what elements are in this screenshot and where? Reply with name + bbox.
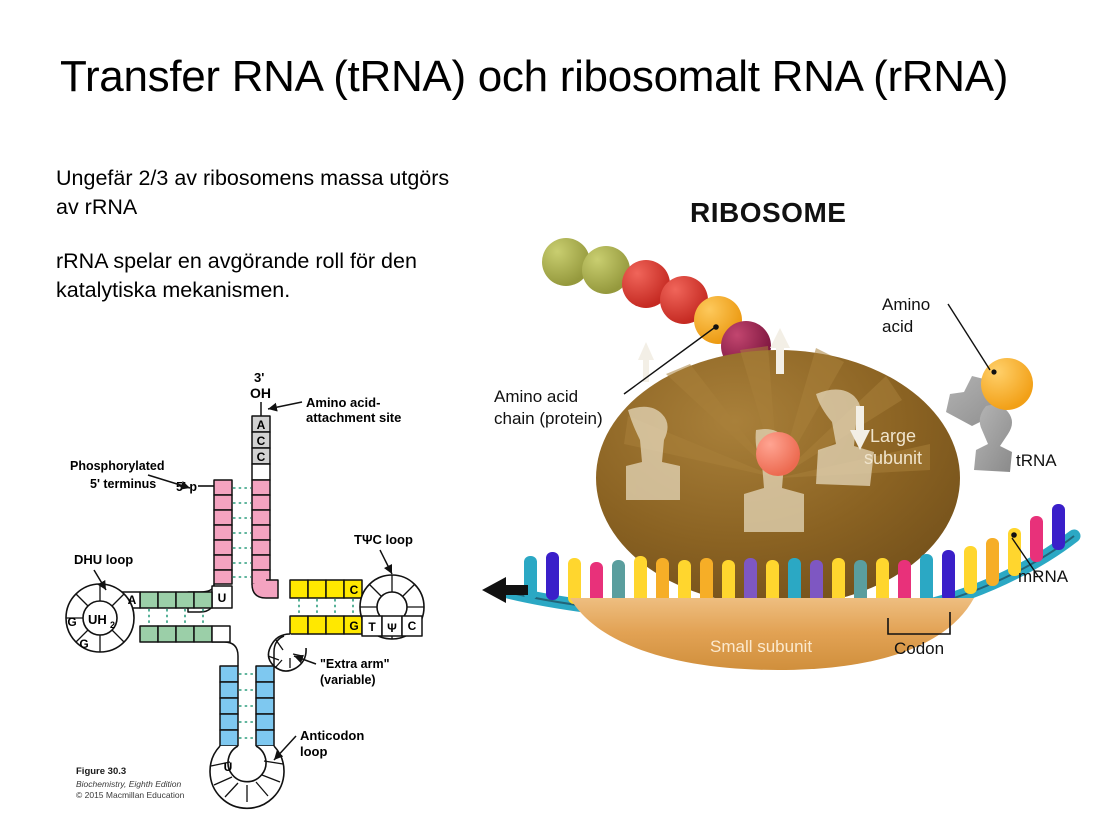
anticodon-stem-right <box>256 666 274 746</box>
base-c2-acceptor: C <box>257 450 266 464</box>
large-subunit-label-2: subunit <box>864 448 922 468</box>
base-t-tpsic: T <box>368 620 376 634</box>
label-mrna: mRNA <box>1018 567 1069 586</box>
trna-label-extra-arm-2: (variable) <box>320 673 376 687</box>
figure-copyright: © 2015 Macmillan Education <box>76 790 184 801</box>
svg-text:UH: UH <box>88 612 107 627</box>
body-paragraph-2: rRNA spelar en avgörande roll för den ka… <box>56 247 456 304</box>
tpsic-hbonds <box>299 599 353 615</box>
anticodon-hbonds <box>239 674 255 738</box>
label-aa-chain-2: chain (protein) <box>494 409 603 428</box>
small-subunit-label: Small subunit <box>710 637 812 656</box>
amino-acid-anchor-dot <box>991 369 996 374</box>
mrna-anchor-dot <box>1011 532 1017 538</box>
body-text-block: Ungefär 2/3 av ribosomens massa utgörs a… <box>56 164 456 330</box>
anticodon-stem-left <box>220 666 238 746</box>
svg-text:2: 2 <box>110 620 115 630</box>
acceptor-stem-left <box>214 480 232 584</box>
dhu-connector-b <box>212 626 230 642</box>
base-g1-dhu: G <box>67 615 76 629</box>
base-g2-dhu: G <box>79 637 88 651</box>
trna-label-tpsic-loop: TΨC loop <box>354 532 413 547</box>
base-c1-acceptor: C <box>257 434 266 448</box>
ribosome-title: RIBOSOME <box>690 197 846 228</box>
trna-label-anticodon-1: Anticodon <box>300 728 364 743</box>
label-amino-acid-1: Amino <box>882 295 930 314</box>
trna-label-3prime: 3' <box>254 370 264 385</box>
acceptor-hbonds <box>233 488 251 577</box>
aa-chain-anchor-dot <box>713 324 719 330</box>
trna-diagram-svg: 3' OH Amino acid- attachment site Phosph… <box>62 368 482 820</box>
label-codon: Codon <box>894 639 944 658</box>
base-u-anticodon: U <box>224 760 233 774</box>
base-u-acceptor: U <box>218 591 227 605</box>
protein-bead-1 <box>542 238 590 286</box>
figure-caption: Figure 30.3 Biochemistry, Eighth Edition… <box>76 766 184 802</box>
label-trna: tRNA <box>1016 451 1057 470</box>
trna-label-extra-arm-1: "Extra arm" <box>320 657 390 671</box>
trna-cloverleaf-figure: 3' OH Amino acid- attachment site Phosph… <box>62 368 482 820</box>
dhu-to-anticodon <box>212 642 238 666</box>
trna-label-anticodon-2: loop <box>300 744 327 759</box>
base-a-acceptor: A <box>257 418 266 432</box>
trna-label-dhu-loop: DHU loop <box>74 552 133 567</box>
dhu-stem-lower <box>140 626 212 642</box>
page-title: Transfer RNA (tRNA) och ribosomalt RNA (… <box>60 52 1050 101</box>
base-c-tpsic-right: C <box>408 619 417 633</box>
trna-label-aa-attach-2: attachment site <box>306 410 401 425</box>
arrow-up-left <box>638 342 654 382</box>
figure-source: Biochemistry, Eighth Edition <box>76 779 184 790</box>
base-psi-tpsic: Ψ <box>387 621 397 635</box>
figure-number: Figure 30.3 <box>76 766 184 779</box>
label-amino-acid-2: acid <box>882 317 913 336</box>
trna-label-phos-1: Phosphorylated <box>70 459 164 473</box>
dhu-stem-upper <box>140 592 212 608</box>
acceptor-stem-right <box>252 480 270 584</box>
large-subunit-label-1: Large <box>870 426 916 446</box>
ribosome-figure: RIBOSOME <box>478 178 1106 678</box>
slide-canvas: Transfer RNA (tRNA) och ribosomalt RNA (… <box>0 0 1110 836</box>
salmon-amino-acid <box>756 432 800 476</box>
anticodon-loop-inner <box>228 746 266 782</box>
base-a-dhu: A <box>128 593 137 607</box>
body-paragraph-1: Ungefär 2/3 av ribosomens massa utgörs a… <box>56 164 456 221</box>
base-g-tpsic-lower: G <box>349 619 358 633</box>
trna-label-aa-attach-1: Amino acid- <box>306 395 380 410</box>
label-aa-chain-1: Amino acid <box>494 387 578 406</box>
free-amino-acid-sphere <box>981 358 1033 410</box>
base-c-tpsic-upper: C <box>350 583 359 597</box>
trna-label-phos-2: 5' terminus <box>90 477 156 491</box>
trna-label-oh: OH <box>250 385 271 401</box>
ribosome-diagram-svg: RIBOSOME <box>478 178 1106 678</box>
